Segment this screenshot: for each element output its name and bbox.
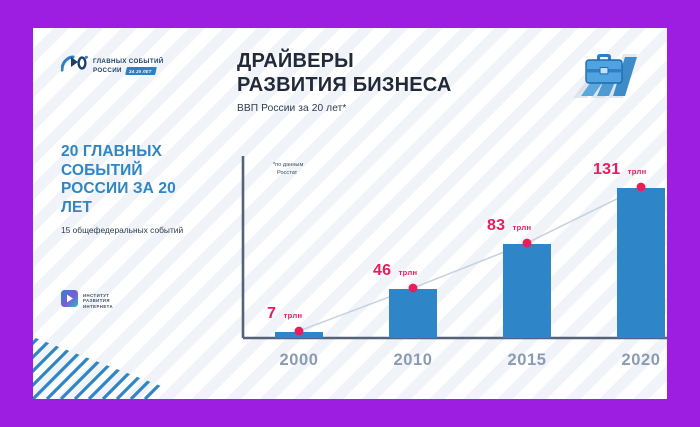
- brand-line-2-row: РОССИИ ЗА 20 ЛЕТ: [93, 67, 164, 75]
- value-label-2000: 7 трлн: [267, 305, 302, 322]
- brand-logo: ГЛАВНЫХ СОБЫТИЙ РОССИИ ЗА 20 ЛЕТ: [61, 55, 164, 77]
- marker-2000: [295, 327, 304, 336]
- year-label-2010: 2010: [393, 351, 432, 369]
- chart-note-line-1: *по данным: [273, 162, 303, 168]
- sidebar-heading: 20 ГЛАВНЫХ СОБЫТИЙ РОССИИ ЗА 20 ЛЕТ: [61, 143, 201, 217]
- logo-20-mark-icon: [61, 55, 88, 77]
- value-number-2020: 131: [593, 161, 620, 178]
- brand-wordmark: ГЛАВНЫХ СОБЫТИЙ РОССИИ ЗА 20 ЛЕТ: [93, 58, 164, 75]
- value-label-2010: 46 трлн: [373, 262, 418, 279]
- value-label-2020: 131 трлн: [593, 161, 647, 178]
- briefcase-shape: [586, 54, 622, 83]
- chart-source-note: *по данным Росстат: [273, 162, 305, 176]
- page-subtitle: ВВП России за 20 лет*: [237, 103, 347, 114]
- value-number-2000: 7: [267, 305, 276, 322]
- partner-line-3: ИНТЕРНЕТА: [83, 304, 113, 310]
- year-label-2000: 2000: [279, 351, 318, 369]
- main-content: ДРАЙВЕРЫ РАЗВИТИЯ БИЗНЕСА ВВП России за …: [201, 28, 667, 399]
- brand-line-1: ГЛАВНЫХ СОБЫТИЙ: [93, 58, 164, 66]
- value-unit-2000: трлн: [284, 311, 303, 320]
- value-label-2015: 83 трлн: [487, 217, 532, 234]
- sidebar: ГЛАВНЫХ СОБЫТИЙ РОССИИ ЗА 20 ЛЕТ 20 ГЛАВ…: [33, 28, 201, 399]
- chart-bars: [275, 188, 665, 338]
- content-card: ГЛАВНЫХ СОБЫТИЙ РОССИИ ЗА 20 ЛЕТ 20 ГЛАВ…: [33, 28, 667, 399]
- chart-note-line-2: Росстат: [277, 170, 298, 176]
- brand-chip-badge: ЗА 20 ЛЕТ: [125, 67, 156, 75]
- chart-axis: [243, 156, 667, 338]
- iri-play-mark-icon: [61, 290, 78, 312]
- sidebar-subtitle: 15 общефедеральных событий: [61, 225, 191, 237]
- gdp-bar-chart: *по данным Росстат: [237, 146, 667, 378]
- partner-logo: ИНСТИТУТ РАЗВИТИЯ ИНТЕРНЕТА: [61, 290, 113, 312]
- chart-category-labels: 2000 2010 2015 2020: [279, 351, 660, 369]
- infographic-root: ГЛАВНЫХ СОБЫТИЙ РОССИИ ЗА 20 ЛЕТ 20 ГЛАВ…: [0, 0, 700, 427]
- marker-2020: [637, 183, 646, 192]
- year-label-2015: 2015: [507, 351, 546, 369]
- bar-2010: [389, 289, 437, 338]
- value-unit-2020: трлн: [628, 167, 647, 176]
- value-unit-2015: трлн: [513, 223, 532, 232]
- trend-line: [299, 187, 641, 331]
- marker-2010: [409, 284, 418, 293]
- marker-2015: [523, 239, 532, 248]
- bar-2020: [617, 188, 665, 338]
- bar-2015: [503, 244, 551, 338]
- page-title: ДРАЙВЕРЫ РАЗВИТИЯ БИЗНЕСА: [237, 50, 452, 97]
- chart-value-labels: 7 трлн 46 трлн 83 трлн 131: [267, 161, 647, 322]
- value-number-2015: 83: [487, 217, 505, 234]
- value-unit-2010: трлн: [399, 268, 418, 277]
- brand-line-2: РОССИИ: [93, 67, 122, 75]
- briefcase-growth-icon: [571, 46, 639, 104]
- chart-svg: *по данным Росстат: [237, 146, 667, 378]
- partner-wordmark: ИНСТИТУТ РАЗВИТИЯ ИНТЕРНЕТА: [83, 293, 113, 310]
- value-number-2010: 46: [373, 262, 391, 279]
- year-label-2020: 2020: [621, 351, 660, 369]
